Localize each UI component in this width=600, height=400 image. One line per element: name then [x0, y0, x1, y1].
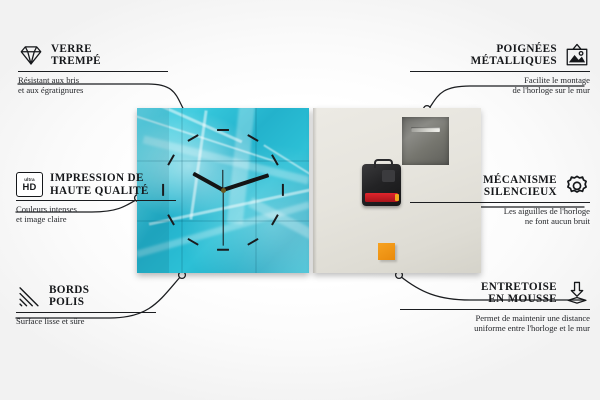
hanger-slot	[411, 127, 440, 132]
feature-title-line2: TREMPÉ	[51, 55, 101, 67]
clock-center-cap	[221, 188, 226, 193]
feature-title-line2: POLIS	[49, 296, 89, 308]
clock-tick	[217, 129, 229, 131]
polished-edges-icon	[16, 283, 42, 309]
divider	[410, 202, 590, 203]
feature-sub-line1: Couleurs intenses	[16, 204, 176, 214]
mechanism-dial	[382, 170, 395, 182]
feature-sub-line1: Surface lisse et sûre	[16, 316, 156, 326]
feature-sub-line2: ne font aucun bruit	[410, 216, 590, 226]
feature-mecanisme-silencieux[interactable]: MÉCANISME SILENCIEUX Les aiguilles de l'…	[410, 173, 590, 226]
hanging-frame-icon	[564, 42, 590, 68]
clock-tick	[282, 184, 284, 196]
divider	[18, 71, 168, 72]
ultra-hd-badge-icon: ultra HD	[16, 172, 43, 197]
divider	[16, 200, 176, 201]
feature-verre-trempe[interactable]: VERRE TREMPÉ Résistant aux bris et aux é…	[18, 42, 168, 95]
feature-sub-line2: et aux égratignures	[18, 85, 168, 95]
divider	[400, 309, 590, 310]
foam-spacer	[378, 243, 395, 260]
feature-title-line2: MÉTALLIQUES	[471, 55, 557, 67]
feature-sub-line1: Les aiguilles de l'horloge	[410, 206, 590, 216]
mechanism-hook	[374, 159, 393, 168]
feature-poignees-metalliques[interactable]: POIGNÉES MÉTALLIQUES Facilite le montage…	[410, 42, 590, 95]
battery	[365, 193, 398, 202]
diamond-icon	[18, 42, 44, 68]
feature-title-line2: SILENCIEUX	[483, 186, 557, 198]
feature-bords-polis[interactable]: BORDS POLIS Surface lisse et sûre	[16, 283, 156, 326]
feature-title-line1: BORDS	[49, 284, 89, 296]
feature-title-line1: IMPRESSION DE	[50, 172, 149, 184]
feature-title-line2: HAUTE QUALITÉ	[50, 185, 149, 197]
feature-title-line2: EN MOUSSE	[481, 293, 557, 305]
divider	[410, 71, 590, 72]
feature-title-line1: POIGNÉES	[471, 43, 557, 55]
feature-title-line1: ENTRETOISE	[481, 281, 557, 293]
metal-hanger-plate	[402, 117, 449, 165]
gear-icon	[564, 173, 590, 199]
feature-title-line1: MÉCANISME	[483, 174, 557, 186]
feature-sub-line1: Permet de maintenir une distance	[400, 313, 590, 323]
feature-title-line1: VERRE	[51, 43, 101, 55]
foam-spacer-arrow-icon	[564, 280, 590, 306]
divider	[16, 312, 156, 313]
hd-badge-main-label: HD	[23, 182, 37, 192]
feature-sub-line1: Facilite le montage	[410, 75, 590, 85]
feature-sub-line2: de l'horloge sur le mur	[410, 85, 590, 95]
feature-sub-line2: et image claire	[16, 214, 176, 224]
feature-sub-line2: uniforme entre l'horloge et le mur	[400, 323, 590, 333]
clock-second-hand	[222, 190, 223, 246]
clock-tick	[217, 249, 229, 251]
clock-mechanism	[362, 164, 401, 206]
feature-sub-line1: Résistant aux bris	[18, 75, 168, 85]
feature-entretoise-en-mousse[interactable]: ENTRETOISE EN MOUSSE Permet de maintenir…	[400, 280, 590, 333]
infographic-canvas: VERRE TREMPÉ Résistant aux bris et aux é…	[0, 0, 600, 400]
feature-impression-haute-qualite[interactable]: ultra HD IMPRESSION DE HAUTE QUALITÉ Cou…	[16, 172, 176, 224]
